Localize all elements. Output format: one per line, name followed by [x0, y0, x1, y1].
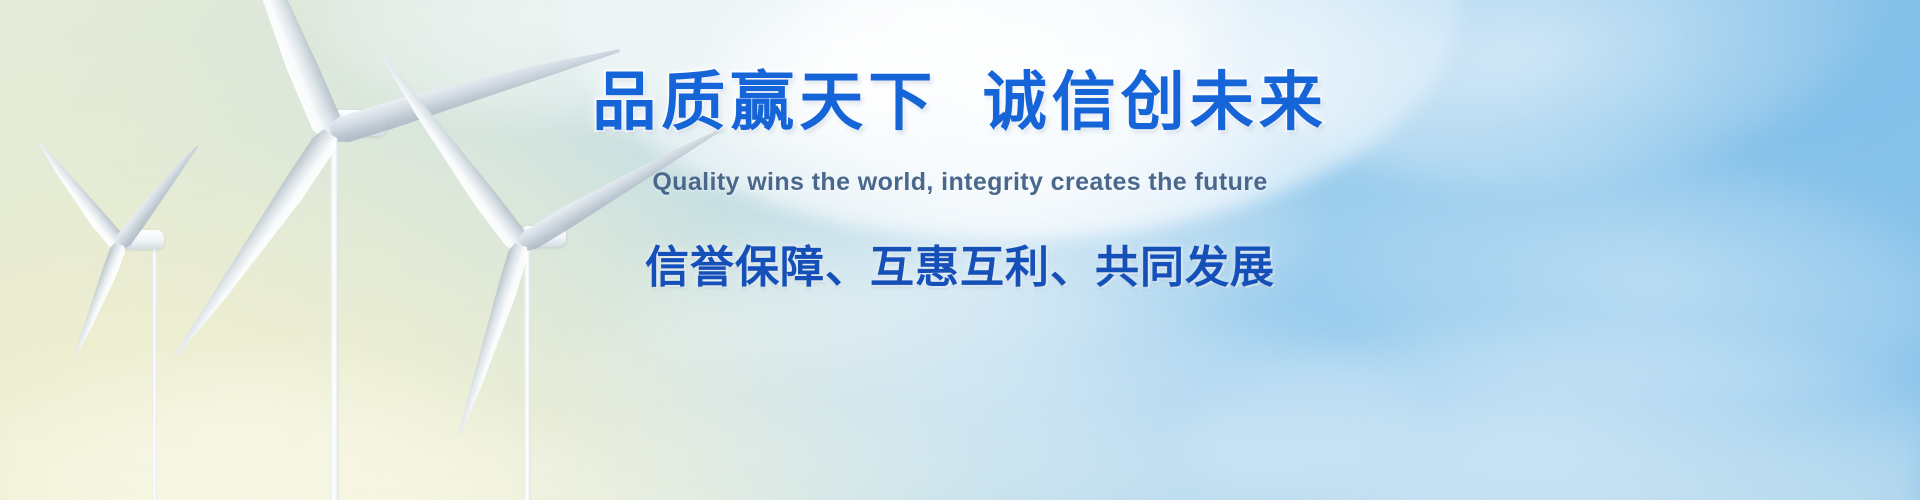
- banner-headline: 品质赢天下 诚信创未来: [0, 62, 1920, 142]
- promo-banner: 品质赢天下 诚信创未来 Quality wins the world, inte…: [0, 0, 1920, 500]
- banner-text-block: 品质赢天下 诚信创未来 Quality wins the world, inte…: [0, 0, 1920, 500]
- banner-subheadline-english: Quality wins the world, integrity create…: [0, 166, 1920, 198]
- banner-tagline: 信誉保障、互惠互利、共同发展: [0, 240, 1920, 296]
